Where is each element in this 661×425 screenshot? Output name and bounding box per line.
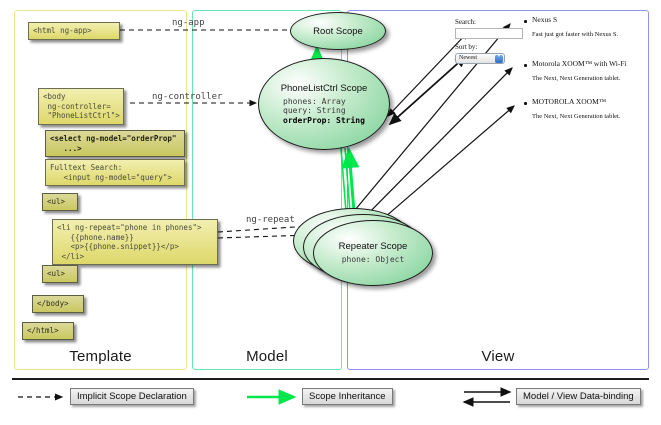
code-html-close: </html> bbox=[22, 322, 74, 340]
scope-repeater: Repeater Scope phone: Object bbox=[313, 220, 433, 286]
panel-template: Template bbox=[14, 10, 187, 370]
code-input-tag: Fulltext Search: <input ng-model="query"… bbox=[45, 159, 185, 186]
search-input[interactable] bbox=[455, 28, 523, 39]
legend-scope-inheritance: Scope Inheritance bbox=[302, 388, 393, 405]
scope-root-title: Root Scope bbox=[313, 26, 363, 37]
edge-label-ng-repeat: ng-repeat bbox=[246, 215, 295, 225]
view-sort-label: Sort by: bbox=[455, 43, 477, 51]
scope-phonelistctrl-props-plain: phones: Array query: String bbox=[283, 97, 346, 116]
panel-template-label: Template bbox=[15, 348, 186, 365]
list-bullet bbox=[524, 102, 527, 105]
diagram-canvas: Template Model View bbox=[0, 0, 661, 425]
panel-model-label: Model bbox=[193, 348, 341, 365]
scope-phonelistctrl: PhoneListCtrl Scope phones: Array query:… bbox=[258, 58, 390, 150]
scope-repeater-props: phone: Object bbox=[342, 255, 405, 265]
legend-model-view-data-binding: Model / View Data-binding bbox=[516, 388, 641, 405]
sort-by-select[interactable]: Newest ▾ bbox=[455, 53, 505, 64]
scope-root: Root Scope bbox=[290, 12, 386, 50]
scope-phonelistctrl-props: phones: Array query: String orderProp: S… bbox=[283, 97, 365, 126]
view-search-label: Search: bbox=[455, 18, 476, 26]
phone-name: MOTOROLA XOOM™ bbox=[532, 97, 620, 106]
phone-snippet: The Next, Next Generation tablet. bbox=[532, 113, 620, 120]
code-body-tag: <body ng-controller= "PhoneListCtrl"> bbox=[38, 88, 124, 125]
scope-phonelistctrl-title: PhoneListCtrl Scope bbox=[281, 83, 368, 94]
list-item[interactable]: Motorola XOOM™ with Wi-Fi The Next, Next… bbox=[532, 59, 627, 82]
scope-repeater-title: Repeater Scope bbox=[339, 241, 408, 252]
list-bullet bbox=[524, 20, 527, 23]
legend-divider bbox=[12, 378, 649, 380]
edge-label-ng-controller: ng-controller bbox=[152, 92, 222, 102]
code-ul-close: <ul> bbox=[42, 265, 78, 283]
code-select-tag: <select ng-model="orderProp" ...> bbox=[45, 130, 185, 157]
sort-by-value: Newest bbox=[459, 55, 477, 61]
list-bullet bbox=[524, 64, 527, 67]
scope-phonelistctrl-props-bold: orderProp: String bbox=[283, 116, 365, 125]
code-ul-open: <ul> bbox=[42, 193, 78, 211]
phone-snippet: Fast just got faster with Nexus S. bbox=[532, 31, 618, 38]
edge-label-ng-app: ng-app bbox=[172, 18, 205, 28]
phone-name: Nexus S bbox=[532, 15, 618, 24]
panel-view-label: View bbox=[348, 348, 648, 365]
list-item[interactable]: MOTOROLA XOOM™ The Next, Next Generation… bbox=[532, 97, 620, 120]
list-item[interactable]: Nexus S Fast just got faster with Nexus … bbox=[532, 15, 618, 38]
code-body-close: </body> bbox=[32, 295, 84, 313]
code-li-repeat: <li ng-repeat="phone in phones"> {{phone… bbox=[52, 219, 218, 265]
phone-name: Motorola XOOM™ with Wi-Fi bbox=[532, 59, 627, 68]
legend-line-binding-join bbox=[464, 392, 510, 402]
code-html-tag: <html ng-app> bbox=[28, 22, 120, 40]
chevron-updown-icon: ▾ bbox=[495, 55, 503, 63]
legend-implicit-scope-declaration: Implicit Scope Declaration bbox=[70, 388, 194, 405]
phone-snippet: The Next, Next Generation tablet. bbox=[532, 75, 627, 82]
